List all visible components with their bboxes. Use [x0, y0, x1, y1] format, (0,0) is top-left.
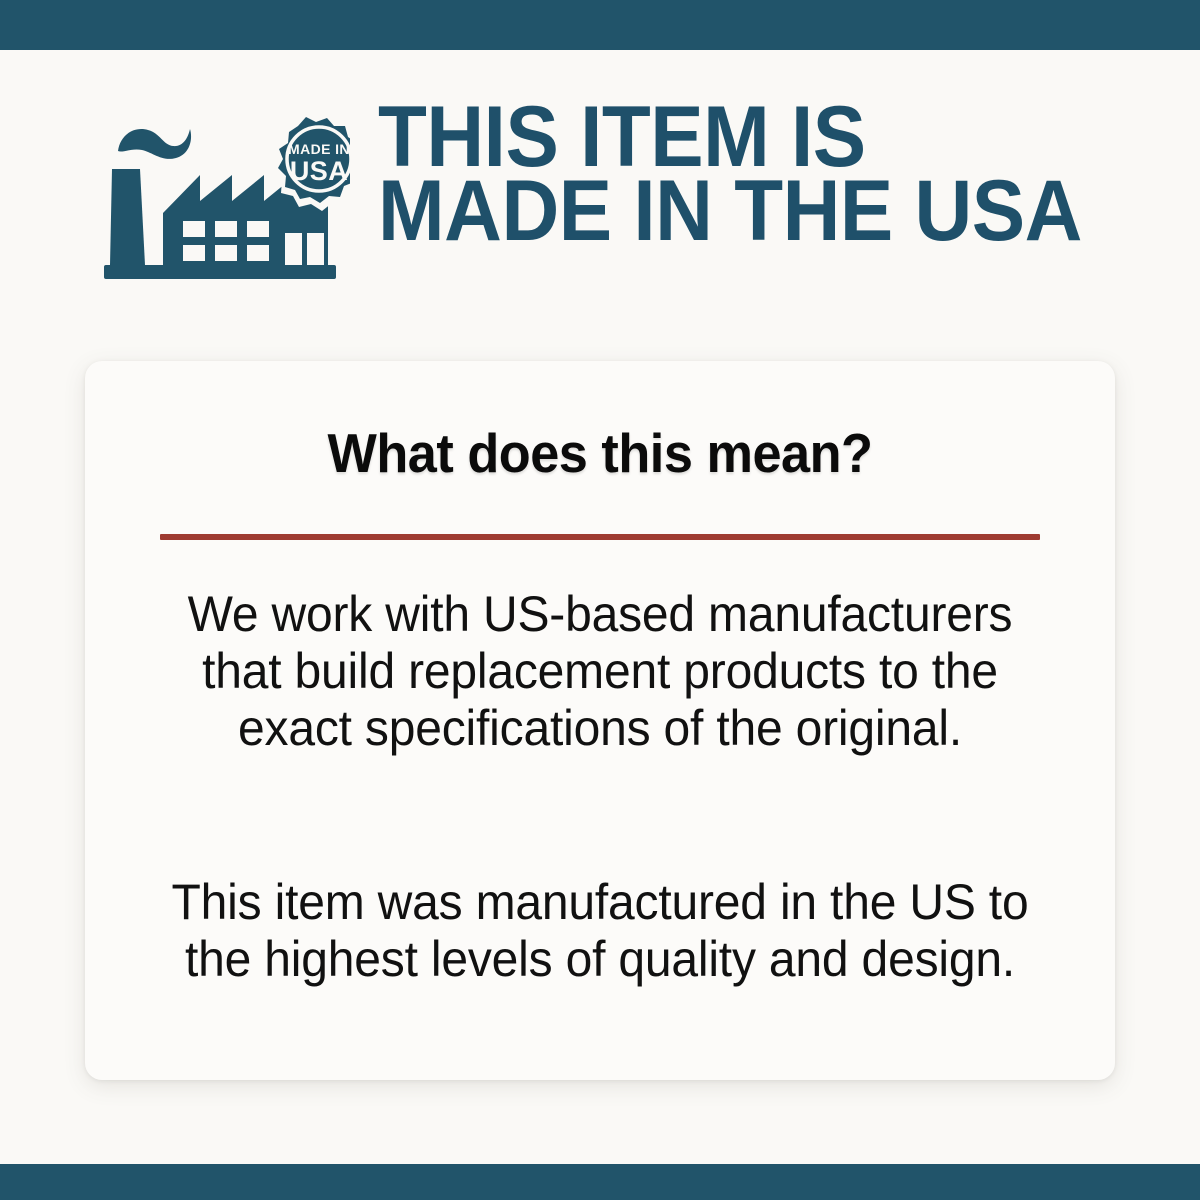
paragraph-1: We work with US-based manufacturers that…	[125, 586, 1075, 757]
explanation-card: What does this mean? We work with US-bas…	[85, 361, 1115, 1080]
svg-text:USA: USA	[290, 156, 348, 186]
made-in-usa-poster: MADE IN USA THIS ITEM IS MADE IN THE USA…	[0, 0, 1200, 1200]
header-section: MADE IN USA THIS ITEM IS MADE IN THE USA	[0, 50, 1200, 300]
factory-icon: MADE IN USA	[100, 105, 350, 285]
paragraph-2-line-2: the highest levels of quality and design…	[125, 931, 1075, 988]
paragraph-1-line-2: that build replacement products to the	[125, 643, 1075, 700]
top-accent-band	[0, 0, 1200, 50]
page-title: THIS ITEM IS MADE IN THE USA	[378, 100, 1113, 248]
card-divider-rule	[160, 534, 1040, 540]
bottom-accent-band	[0, 1164, 1200, 1200]
headline-line-2: MADE IN THE USA	[378, 174, 1113, 248]
card-heading: What does this mean?	[111, 423, 1090, 483]
card-body: We work with US-based manufacturers that…	[85, 586, 1115, 988]
paragraph-1-line-1: We work with US-based manufacturers	[125, 586, 1075, 643]
paragraph-1-line-3: exact specifications of the original.	[125, 700, 1075, 757]
svg-text:MADE IN: MADE IN	[288, 141, 350, 157]
paragraph-2-line-1: This item was manufactured in the US to	[125, 874, 1075, 931]
paragraph-2: This item was manufactured in the US to …	[125, 874, 1075, 988]
